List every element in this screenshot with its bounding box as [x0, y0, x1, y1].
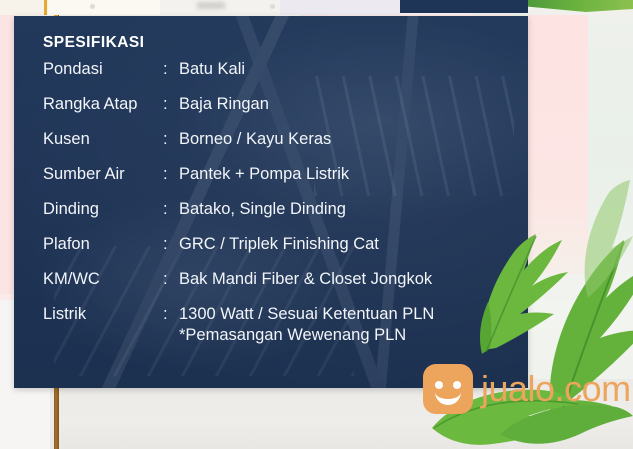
smiley-face-icon	[423, 364, 473, 414]
spec-value: Batu Kali	[179, 60, 434, 95]
spec-value: Bak Mandi Fiber & Closet Jongkok	[179, 270, 434, 305]
spec-value-note: *Pemasangan Wewenang PLN	[179, 326, 434, 345]
table-row: Pondasi : Batu Kali	[43, 60, 434, 95]
table-row: Kusen : Borneo / Kayu Keras	[43, 130, 434, 165]
spec-label: Pondasi	[43, 60, 163, 95]
screenshot-canvas: SPESIFIKASI Pondasi : Batu Kali Rangka A…	[0, 0, 633, 449]
watermark: jualo.com	[423, 364, 631, 414]
watermark-brand: jualo	[481, 368, 555, 409]
watermark-suffix: .com	[555, 368, 631, 409]
spec-label: Dinding	[43, 200, 163, 235]
table-row: Rangka Atap : Baja Ringan	[43, 95, 434, 130]
watermark-text: jualo.com	[481, 371, 631, 407]
table-row: Listrik : 1300 Watt / Sesuai Ketentuan P…	[43, 305, 434, 345]
spec-value: GRC / Triplek Finishing Cat	[179, 235, 434, 270]
spec-separator: :	[163, 270, 179, 305]
spec-label: Listrik	[43, 305, 163, 345]
specification-table: Pondasi : Batu Kali Rangka Atap : Baja R…	[43, 60, 434, 345]
spec-separator: :	[163, 60, 179, 95]
spec-separator: :	[163, 130, 179, 165]
spec-separator: :	[163, 235, 179, 270]
spec-separator: :	[163, 95, 179, 130]
spec-label: Kusen	[43, 130, 163, 165]
background-right-pink-strip	[528, 14, 588, 274]
page-title: SPESIFIKASI	[43, 34, 528, 52]
background-top-dot-left	[90, 4, 95, 9]
spec-value: Baja Ringan	[179, 95, 434, 130]
spec-value: 1300 Watt / Sesuai Ketentuan PLN *Pemasa…	[179, 305, 434, 345]
background-top-navy-chip	[400, 0, 528, 13]
table-row: Dinding : Batako, Single Dinding	[43, 200, 434, 235]
spec-separator: :	[163, 200, 179, 235]
specification-sign-panel: SPESIFIKASI Pondasi : Batu Kali Rangka A…	[14, 16, 528, 388]
background-top-yellow-marker	[44, 0, 47, 15]
spec-value-main: 1300 Watt / Sesuai Ketentuan PLN	[179, 305, 434, 323]
spec-separator: :	[163, 165, 179, 200]
table-row: Plafon : GRC / Triplek Finishing Cat	[43, 235, 434, 270]
spec-separator: :	[163, 305, 179, 345]
spec-label: Sumber Air	[43, 165, 163, 200]
spec-value: Borneo / Kayu Keras	[179, 130, 434, 165]
table-row: Sumber Air : Pantek + Pompa Listrik	[43, 165, 434, 200]
spec-label: KM/WC	[43, 270, 163, 305]
table-row: KM/WC : Bak Mandi Fiber & Closet Jongkok	[43, 270, 434, 305]
spec-label: Plafon	[43, 235, 163, 270]
spec-value: Pantek + Pompa Listrik	[179, 165, 434, 200]
spec-label: Rangka Atap	[43, 95, 163, 130]
background-top-dot-right	[270, 4, 275, 9]
background-top-blur-text	[197, 2, 225, 9]
spec-value: Batako, Single Dinding	[179, 200, 434, 235]
smiley-mouth	[435, 386, 461, 405]
